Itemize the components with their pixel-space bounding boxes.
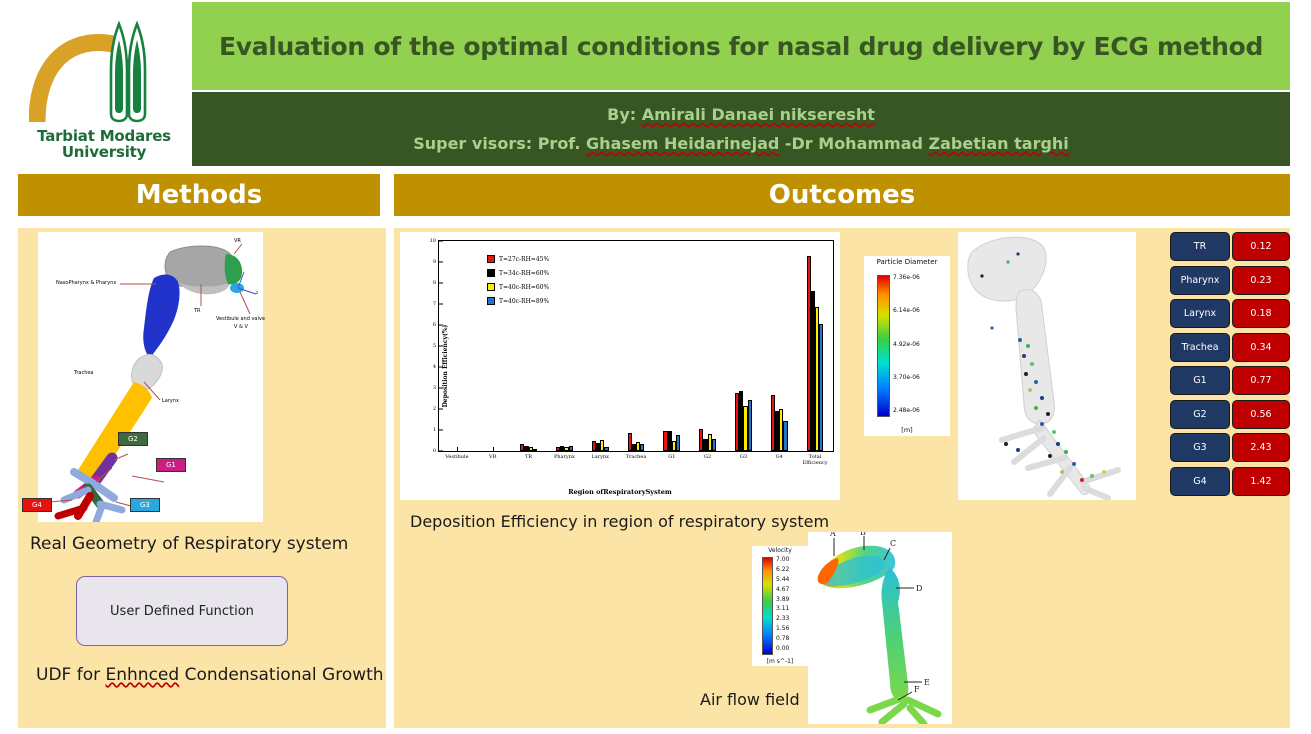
chart-y-tick: 1	[433, 427, 436, 433]
velocity-colorbar-title: Velocity	[764, 546, 796, 555]
chart-legend-item: T=27c-RH=45%	[487, 255, 549, 263]
geometry-label-tr: TR	[194, 308, 201, 314]
geometry-label-trachea: Trachea	[74, 370, 94, 376]
svg-text:A: A	[829, 532, 836, 538]
chart-y-tick: 2	[433, 406, 436, 412]
chart-y-tick-mark	[439, 346, 443, 347]
table-row: TR0.12	[1170, 232, 1288, 259]
table-row: Trachea0.34	[1170, 333, 1288, 360]
chart-y-tick: 6	[433, 322, 436, 328]
chart-legend-label: T=34c-RH=60%	[499, 270, 549, 277]
geometry-badge-g1: G1	[156, 458, 186, 472]
author-line: By: Amirali Danaei nikseresht	[607, 105, 875, 124]
geometry-badge-g3: G3	[130, 498, 160, 512]
result-value-cell: 1.42	[1232, 467, 1290, 496]
particle-colorbar-title: Particle Diameter	[872, 256, 943, 268]
svg-text:F: F	[914, 685, 920, 694]
poster-header: Tarbiat Modares University Evaluation of…	[0, 0, 1311, 166]
particle-colorbar-tick: 3.70e-06	[893, 375, 920, 381]
result-region-cell: G2	[1170, 400, 1230, 429]
chart-legend-swatch	[487, 283, 495, 291]
geometry-label-larynx: Larynx	[162, 398, 179, 404]
table-row: G10.77	[1170, 366, 1288, 393]
caption-deposition-efficiency: Deposition Efficiency in region of respi…	[410, 512, 829, 531]
result-region-cell: TR	[1170, 232, 1230, 261]
supervisor-one: Ghasem Heidarinejad	[586, 134, 779, 153]
result-region-cell: G3	[1170, 433, 1230, 462]
table-row: G20.56	[1170, 400, 1288, 427]
supervisor-line: Super visors: Prof. Ghasem Heidarinejad …	[413, 134, 1069, 153]
geometry-badge-g2: G2	[118, 432, 148, 446]
chart-y-tick-mark	[439, 430, 443, 431]
poster-title-bar: Evaluation of the optimal conditions for…	[192, 2, 1290, 90]
result-region-cell: G1	[1170, 366, 1230, 395]
svg-text:C: C	[890, 539, 896, 548]
supervisor-prefix: Super visors: Prof.	[413, 134, 586, 153]
chart-y-tick-mark	[439, 388, 443, 389]
particle-diameter-colorbar: Particle Diameter 7.36e-066.14e-064.92e-…	[864, 256, 950, 436]
chart-bar	[569, 446, 573, 451]
chart-x-tick-label: G4	[776, 454, 783, 460]
velocity-colorbar-tick: 0.78	[776, 636, 789, 642]
velocity-colorbar-tick: 7.00	[776, 557, 789, 563]
logo-caption-line1: Tarbiat Modares	[37, 128, 171, 144]
chart-x-tick-label: G1	[668, 454, 675, 460]
university-logo: Tarbiat Modares University	[18, 2, 190, 164]
particle-colorbar-tick: 4.92e-06	[893, 342, 920, 348]
airflow-field-figure: A B C D E F	[808, 532, 952, 724]
chart-y-tick-mark	[439, 304, 443, 305]
chart-y-tick-mark	[439, 409, 443, 410]
tarbiat-modares-logo-icon	[29, 18, 179, 128]
supervisor-mid: -Dr Mohammad	[779, 134, 928, 153]
velocity-colorbar-tick: 3.89	[776, 597, 789, 603]
chart-legend-swatch	[487, 255, 495, 263]
chart-x-tick-label: TR	[525, 454, 532, 460]
geometry-badge-g4: G4	[22, 498, 52, 512]
methods-panel: VR TR NasoPharynx & Pharynx Vestibule an…	[18, 228, 386, 728]
chart-plot-area: T=27c-RH=45%T=34c-RH=60%T=40c-RH=60%T=40…	[438, 240, 834, 452]
airflow-field-icon: A B C D E F	[808, 532, 952, 724]
velocity-colorbar-tick: 3.11	[776, 606, 789, 612]
velocity-colorbar-tick: 4.67	[776, 587, 789, 593]
caption-air-flow-field: Air flow field	[700, 690, 800, 709]
svg-text:B: B	[860, 532, 866, 537]
user-defined-function-box[interactable]: User Defined Function	[76, 576, 288, 646]
table-row: G41.42	[1170, 467, 1288, 494]
respiratory-geometry-figure: VR TR NasoPharynx & Pharynx Vestibule an…	[38, 232, 263, 522]
chart-y-tick: 7	[433, 301, 436, 307]
logo-caption: Tarbiat Modares University	[37, 128, 171, 164]
velocity-colorbar-tick: 6.22	[776, 567, 789, 573]
table-row: Pharynx0.23	[1170, 266, 1288, 293]
chart-y-tick-mark	[439, 241, 443, 242]
chart-y-tick: 0	[433, 448, 436, 454]
chart-bar	[712, 439, 716, 451]
section-header-methods: Methods	[18, 174, 380, 216]
particle-colorbar-unit: [m]	[893, 424, 920, 436]
chart-legend-item: T=34c-RH=60%	[487, 269, 549, 277]
chart-legend-label: T=40c-RH=60%	[499, 284, 549, 291]
result-region-cell: Larynx	[1170, 299, 1230, 328]
chart-x-tick-mark	[457, 447, 458, 451]
chart-y-tick: 3	[433, 385, 436, 391]
chart-x-tick-label: G3	[740, 454, 747, 460]
chart-y-tick: 4	[433, 364, 436, 370]
deposition-efficiency-chart: Deposition Efficiency(%) Region ofRespir…	[400, 232, 840, 500]
particle-colorbar-gradient	[877, 275, 890, 417]
chart-legend-label: T=27c-RH=45%	[499, 256, 549, 263]
chart-y-tick-mark	[439, 262, 443, 263]
udf-box-label: User Defined Function	[110, 604, 254, 619]
result-value-cell: 0.23	[1232, 266, 1290, 295]
chart-legend: T=27c-RH=45%T=34c-RH=60%T=40c-RH=60%T=40…	[487, 255, 549, 311]
chart-x-tick-label: Trachea	[626, 454, 647, 460]
result-value-cell: 0.56	[1232, 400, 1290, 429]
chart-legend-item: T=40c-RH=89%	[487, 297, 549, 305]
result-region-cell: Trachea	[1170, 333, 1230, 362]
particle-colorbar-tick: 2.48e-06	[893, 408, 920, 414]
chart-legend-swatch	[487, 297, 495, 305]
chart-y-tick-mark	[439, 451, 443, 452]
section-header-outcomes: Outcomes	[394, 174, 1290, 216]
author-prefix: By:	[607, 105, 642, 124]
chart-x-tick-mark	[493, 447, 494, 451]
poster-title: Evaluation of the optimal conditions for…	[219, 32, 1263, 61]
chart-y-tick-mark	[439, 367, 443, 368]
chart-bar	[783, 421, 787, 451]
chart-y-tick: 10	[430, 238, 436, 244]
velocity-colorbar-tick: 1.56	[776, 626, 789, 632]
particle-deposition-icon	[958, 232, 1136, 500]
respiratory-geometry-icon	[38, 232, 263, 522]
velocity-colorbar: Velocity 7.006.225.444.673.893.112.331.5…	[752, 546, 808, 666]
particle-colorbar-tick: 7.36e-06	[893, 275, 920, 281]
particle-colorbar-ticks: 7.36e-066.14e-064.92e-063.70e-062.48e-06	[893, 275, 937, 415]
result-value-cell: 2.43	[1232, 433, 1290, 462]
velocity-colorbar-tick: 0.00	[776, 646, 789, 652]
caption-udf-prefix: UDF for	[36, 665, 106, 685]
chart-bar	[533, 449, 537, 451]
caption-real-geometry: Real Geometry of Respiratory system	[30, 534, 348, 554]
result-value-cell: 0.12	[1232, 232, 1290, 261]
geometry-label-axis-z: z	[256, 290, 258, 295]
chart-y-tick-mark	[439, 325, 443, 326]
table-row: Larynx0.18	[1170, 299, 1288, 326]
chart-y-tick: 8	[433, 280, 436, 286]
velocity-colorbar-tick: 5.44	[776, 577, 789, 583]
table-row: G32.43	[1170, 433, 1288, 460]
chart-legend-label: T=40c-RH=89%	[499, 298, 549, 305]
chart-x-tick-label: Vestibule	[445, 454, 468, 460]
result-region-cell: Pharynx	[1170, 266, 1230, 295]
chart-bar	[604, 447, 608, 451]
outcomes-panel: Deposition Efficiency(%) Region ofRespir…	[394, 228, 1290, 728]
chart-y-tick-mark	[439, 283, 443, 284]
chart-x-tick-label: Larynx	[591, 454, 609, 460]
supervisor-two: Zabetian targhi	[929, 134, 1069, 153]
deposition-results-table: TR0.12Pharynx0.23Larynx0.18Trachea0.34G1…	[1170, 232, 1288, 494]
caption-udf-mid: Enhnced	[106, 665, 180, 685]
section-title-outcomes: Outcomes	[769, 180, 916, 210]
particle-deposition-figure	[958, 232, 1136, 500]
logo-artwork	[29, 18, 179, 128]
poster-author-bar: By: Amirali Danaei nikseresht Super viso…	[192, 92, 1290, 166]
chart-bar	[819, 324, 823, 451]
geometry-label-nasopharynx: NasoPharynx & Pharynx	[56, 280, 116, 286]
result-region-cell: G4	[1170, 467, 1230, 496]
section-title-methods: Methods	[136, 180, 262, 210]
chart-x-tick-label: TotalEfficiency	[803, 454, 828, 466]
particle-colorbar-tick: 6.14e-06	[893, 308, 920, 314]
caption-udf-suffix: Condensational Growth	[179, 665, 383, 685]
svg-text:D: D	[916, 584, 922, 593]
chart-bar	[676, 435, 680, 451]
caption-udf: UDF for Enhnced Condensational Growth	[36, 665, 384, 685]
chart-x-tick-label: Pharynx	[554, 454, 575, 460]
geometry-label-vestibule-abbrev: V & V	[234, 324, 248, 330]
geometry-label-vr: VR	[234, 238, 241, 244]
chart-legend-item: T=40c-RH=60%	[487, 283, 549, 291]
velocity-colorbar-gradient	[762, 557, 773, 655]
geometry-label-vestibule: Vestibule and valve	[216, 316, 265, 322]
author-name: Amirali Danaei nikseresht	[642, 105, 875, 124]
chart-y-tick: 9	[433, 259, 436, 265]
chart-bar	[748, 400, 752, 451]
chart-y-tick: 5	[433, 343, 436, 349]
chart-legend-swatch	[487, 269, 495, 277]
velocity-colorbar-unit: [m s^-1]	[764, 657, 797, 666]
velocity-colorbar-tick: 2.33	[776, 616, 789, 622]
result-value-cell: 0.18	[1232, 299, 1290, 328]
chart-bar	[640, 444, 644, 451]
chart-x-tick-label: VR	[489, 454, 496, 460]
result-value-cell: 0.34	[1232, 333, 1290, 362]
logo-caption-line2: University	[37, 144, 171, 160]
chart-x-axis-label: Region ofRespiratorySystem	[400, 488, 840, 496]
chart-x-tick-label: G2	[704, 454, 711, 460]
velocity-colorbar-ticks: 7.006.225.444.673.893.112.331.560.780.00	[776, 557, 798, 653]
result-value-cell: 0.77	[1232, 366, 1290, 395]
svg-text:E: E	[924, 678, 930, 687]
